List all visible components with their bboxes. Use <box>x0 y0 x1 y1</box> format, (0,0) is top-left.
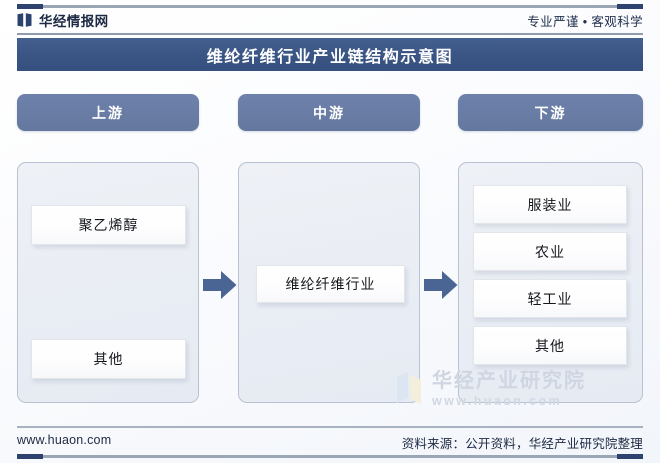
stage-item-label: 其他 <box>94 349 124 369</box>
page-footer: www.huaon.com 资料来源：公开资料，华经产业研究院整理 <box>0 430 660 454</box>
open-book-icon <box>17 13 32 27</box>
stage-item-label: 农业 <box>535 242 565 262</box>
bottom-divider <box>17 455 643 458</box>
stage-header-midstream: 中游 <box>238 94 420 131</box>
page-header: 华经情报网 专业严谨 • 客观科学 <box>0 8 660 32</box>
stage-item-label: 其他 <box>535 336 565 356</box>
stage-panel-upstream: 聚乙烯醇 其他 <box>17 162 199 403</box>
stage-item-downstream-2: 轻工业 <box>473 279 627 318</box>
stage-item-label: 轻工业 <box>528 289 573 309</box>
stage-item-label: 聚乙烯醇 <box>79 215 139 235</box>
footer-source-note: 资料来源：公开资料，华经产业研究院整理 <box>402 433 643 452</box>
header-tagline: 专业严谨 • 客观科学 <box>527 11 643 30</box>
bottom-divider-right-cap <box>617 454 643 459</box>
bottom-divider-left-cap <box>17 454 43 459</box>
stage-item-downstream-1: 农业 <box>473 232 627 271</box>
stage-header-upstream: 上游 <box>17 94 199 131</box>
stage-panel-downstream: 服装业 农业 轻工业 其他 <box>458 162 643 403</box>
page-title: 维纶纤维行业产业链结构示意图 <box>207 43 453 67</box>
brand-name: 华经情报网 <box>39 10 109 30</box>
title-banner: 维纶纤维行业产业链结构示意图 <box>17 38 643 71</box>
right-arrow-icon <box>424 270 458 300</box>
stage-item-midstream-0: 维纶纤维行业 <box>256 265 405 303</box>
footer-divider <box>17 426 643 428</box>
stage-item-upstream-0: 聚乙烯醇 <box>31 205 186 245</box>
stage-item-upstream-1: 其他 <box>31 339 186 379</box>
stage-header-upstream-label: 上游 <box>92 103 124 123</box>
stage-header-downstream-label: 下游 <box>535 103 567 123</box>
header-underline <box>17 33 643 35</box>
right-arrow-icon <box>203 270 237 300</box>
stage-item-downstream-3: 其他 <box>473 326 627 365</box>
stage-header-downstream: 下游 <box>458 94 643 131</box>
stage-header-midstream-label: 中游 <box>313 103 345 123</box>
stage-item-label: 服装业 <box>528 195 573 215</box>
stage-item-downstream-0: 服装业 <box>473 185 627 224</box>
stage-item-label: 维纶纤维行业 <box>286 274 376 294</box>
chart-canvas: 华经情报网 专业严谨 • 客观科学 维纶纤维行业产业链结构示意图 上游 中游 下… <box>0 0 660 463</box>
stage-panel-midstream: 维纶纤维行业 <box>238 162 420 403</box>
footer-site-url[interactable]: www.huaon.com <box>17 433 111 447</box>
brand: 华经情报网 <box>17 10 109 30</box>
